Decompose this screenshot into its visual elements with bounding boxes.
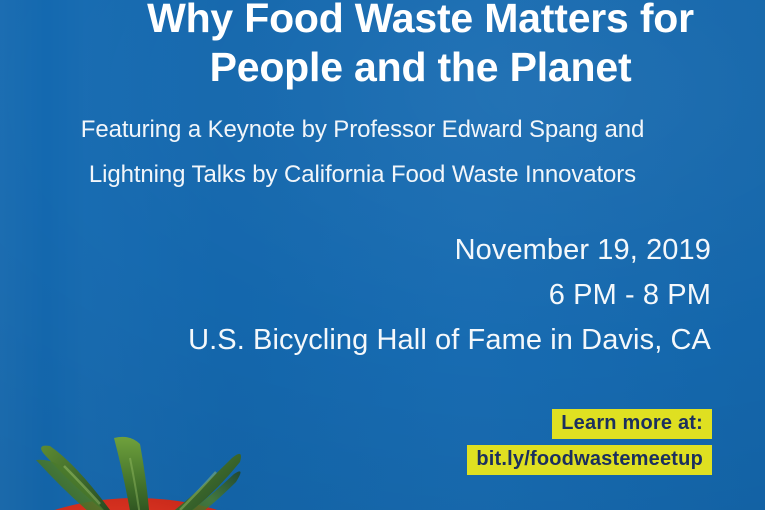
event-venue: U.S. Bicycling Hall of Fame in Davis, CA (188, 318, 711, 363)
event-url-link[interactable]: bit.ly/foodwastemeetup (467, 445, 712, 475)
subtitle-line-2: Lightning Talks by California Food Waste… (14, 152, 711, 197)
poster-title: Why Food Waste Matters for People and th… (0, 0, 711, 92)
title-line-1: Why Food Waste Matters for (130, 0, 711, 43)
event-date: November 19, 2019 (188, 228, 711, 273)
event-flyer: Why Food Waste Matters for People and th… (0, 0, 765, 510)
event-details: November 19, 2019 6 PM - 8 PM U.S. Bicyc… (188, 228, 711, 363)
call-to-action: Learn more at: bit.ly/foodwastemeetup (467, 409, 712, 475)
title-line-2: People and the Planet (130, 43, 711, 92)
subtitle-line-1: Featuring a Keynote by Professor Edward … (14, 107, 711, 152)
poster-subtitle: Featuring a Keynote by Professor Edward … (0, 107, 711, 197)
learn-more-label: Learn more at: (552, 409, 712, 439)
event-time: 6 PM - 8 PM (188, 273, 711, 318)
tomato-photo (0, 400, 320, 510)
